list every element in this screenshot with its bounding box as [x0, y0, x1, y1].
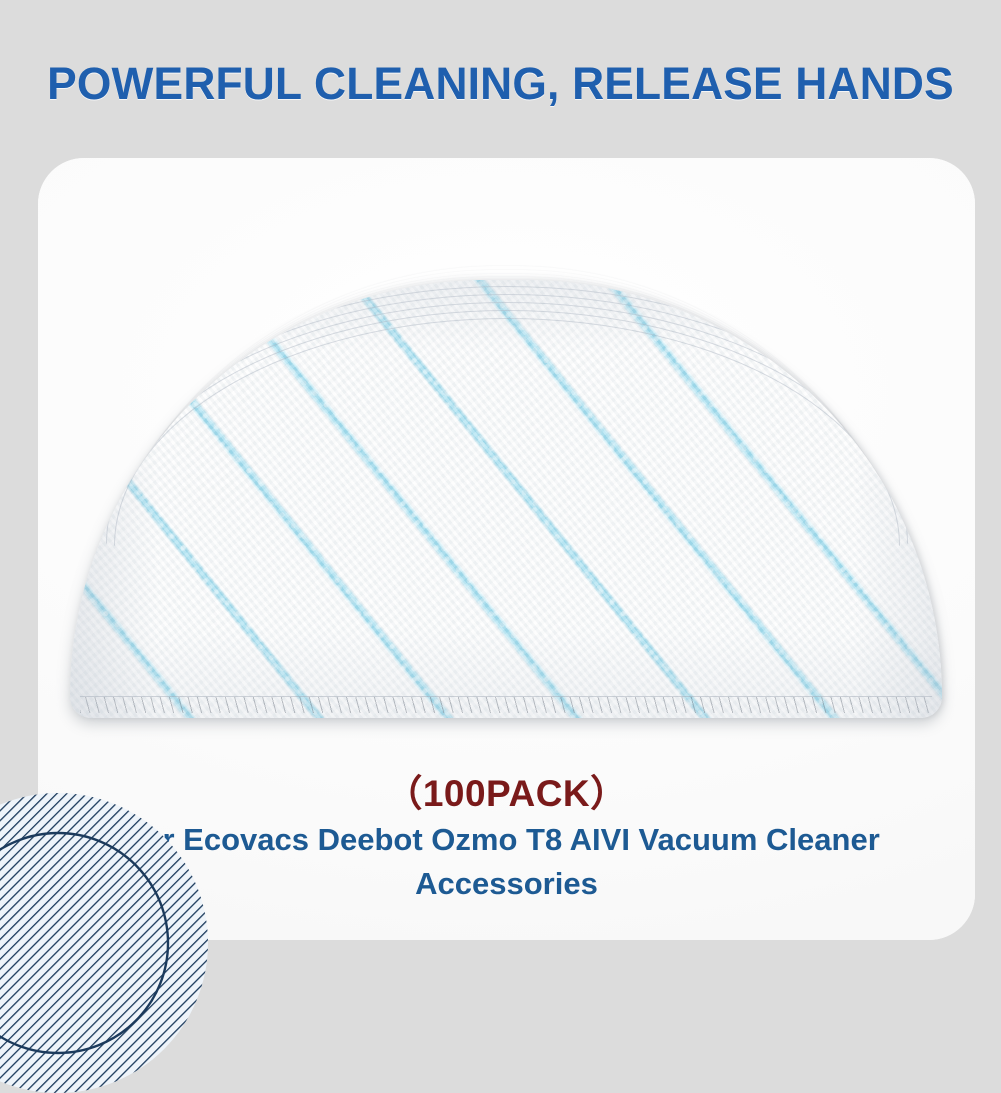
pack-quantity-label: （100PACK）: [38, 763, 975, 817]
product-image-mop-pad: [70, 280, 942, 718]
page-title: POWERFUL CLEANING, RELEASE HANDS: [8, 58, 994, 110]
product-description: for Ecovacs Deebot Ozmo T8 AIVI Vacuum C…: [96, 818, 917, 906]
pad-shading-overlay: [70, 280, 942, 718]
product-card: （100PACK） for Ecovacs Deebot Ozmo T8 AIV…: [38, 158, 975, 940]
mop-pad-front: [70, 280, 942, 718]
